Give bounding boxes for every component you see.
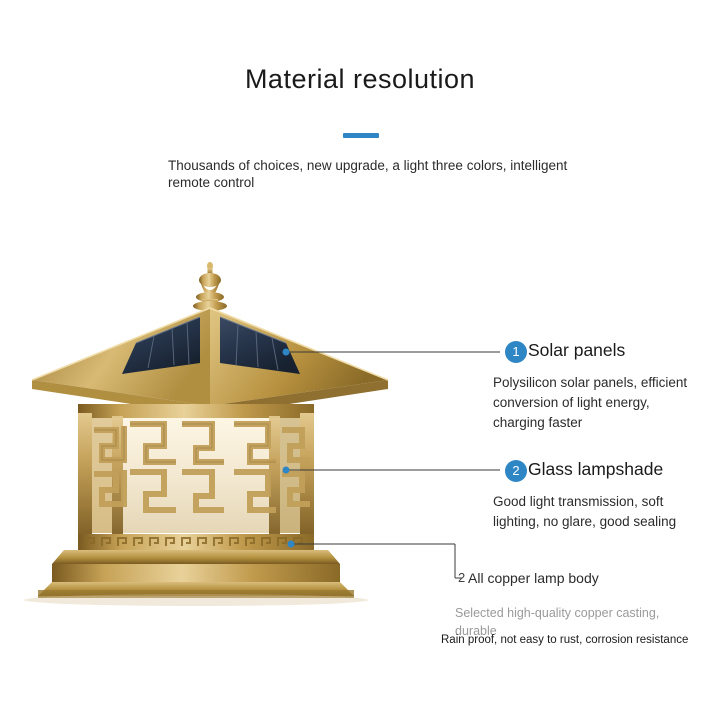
callout-badge-3: 2 <box>458 570 465 585</box>
callout-body-2: Good light transmission, soft lighting, … <box>493 492 703 532</box>
callout-title-2: Glass lampshade <box>528 459 663 480</box>
callout-badge-1: 1 <box>505 341 527 363</box>
page-title: Material resolution <box>0 64 720 95</box>
callout-title-1: Solar panels <box>528 340 625 361</box>
lamp-body <box>78 404 314 550</box>
callout-badge-2: 2 <box>505 460 527 482</box>
product-image <box>24 258 424 608</box>
material-resolution-page: Material resolution Thousands of choices… <box>0 0 720 720</box>
base <box>24 550 368 606</box>
callout-title-3: All copper lamp body <box>468 570 599 586</box>
page-subtitle: Thousands of choices, new upgrade, a lig… <box>168 157 568 191</box>
roof <box>32 308 388 416</box>
callout-body-3-secondary: Rain proof, not easy to rust, corrosion … <box>441 632 701 648</box>
callout-body-1: Polysilicon solar panels, efficient conv… <box>493 373 689 433</box>
title-accent-bar <box>343 133 379 138</box>
finial <box>193 262 227 311</box>
